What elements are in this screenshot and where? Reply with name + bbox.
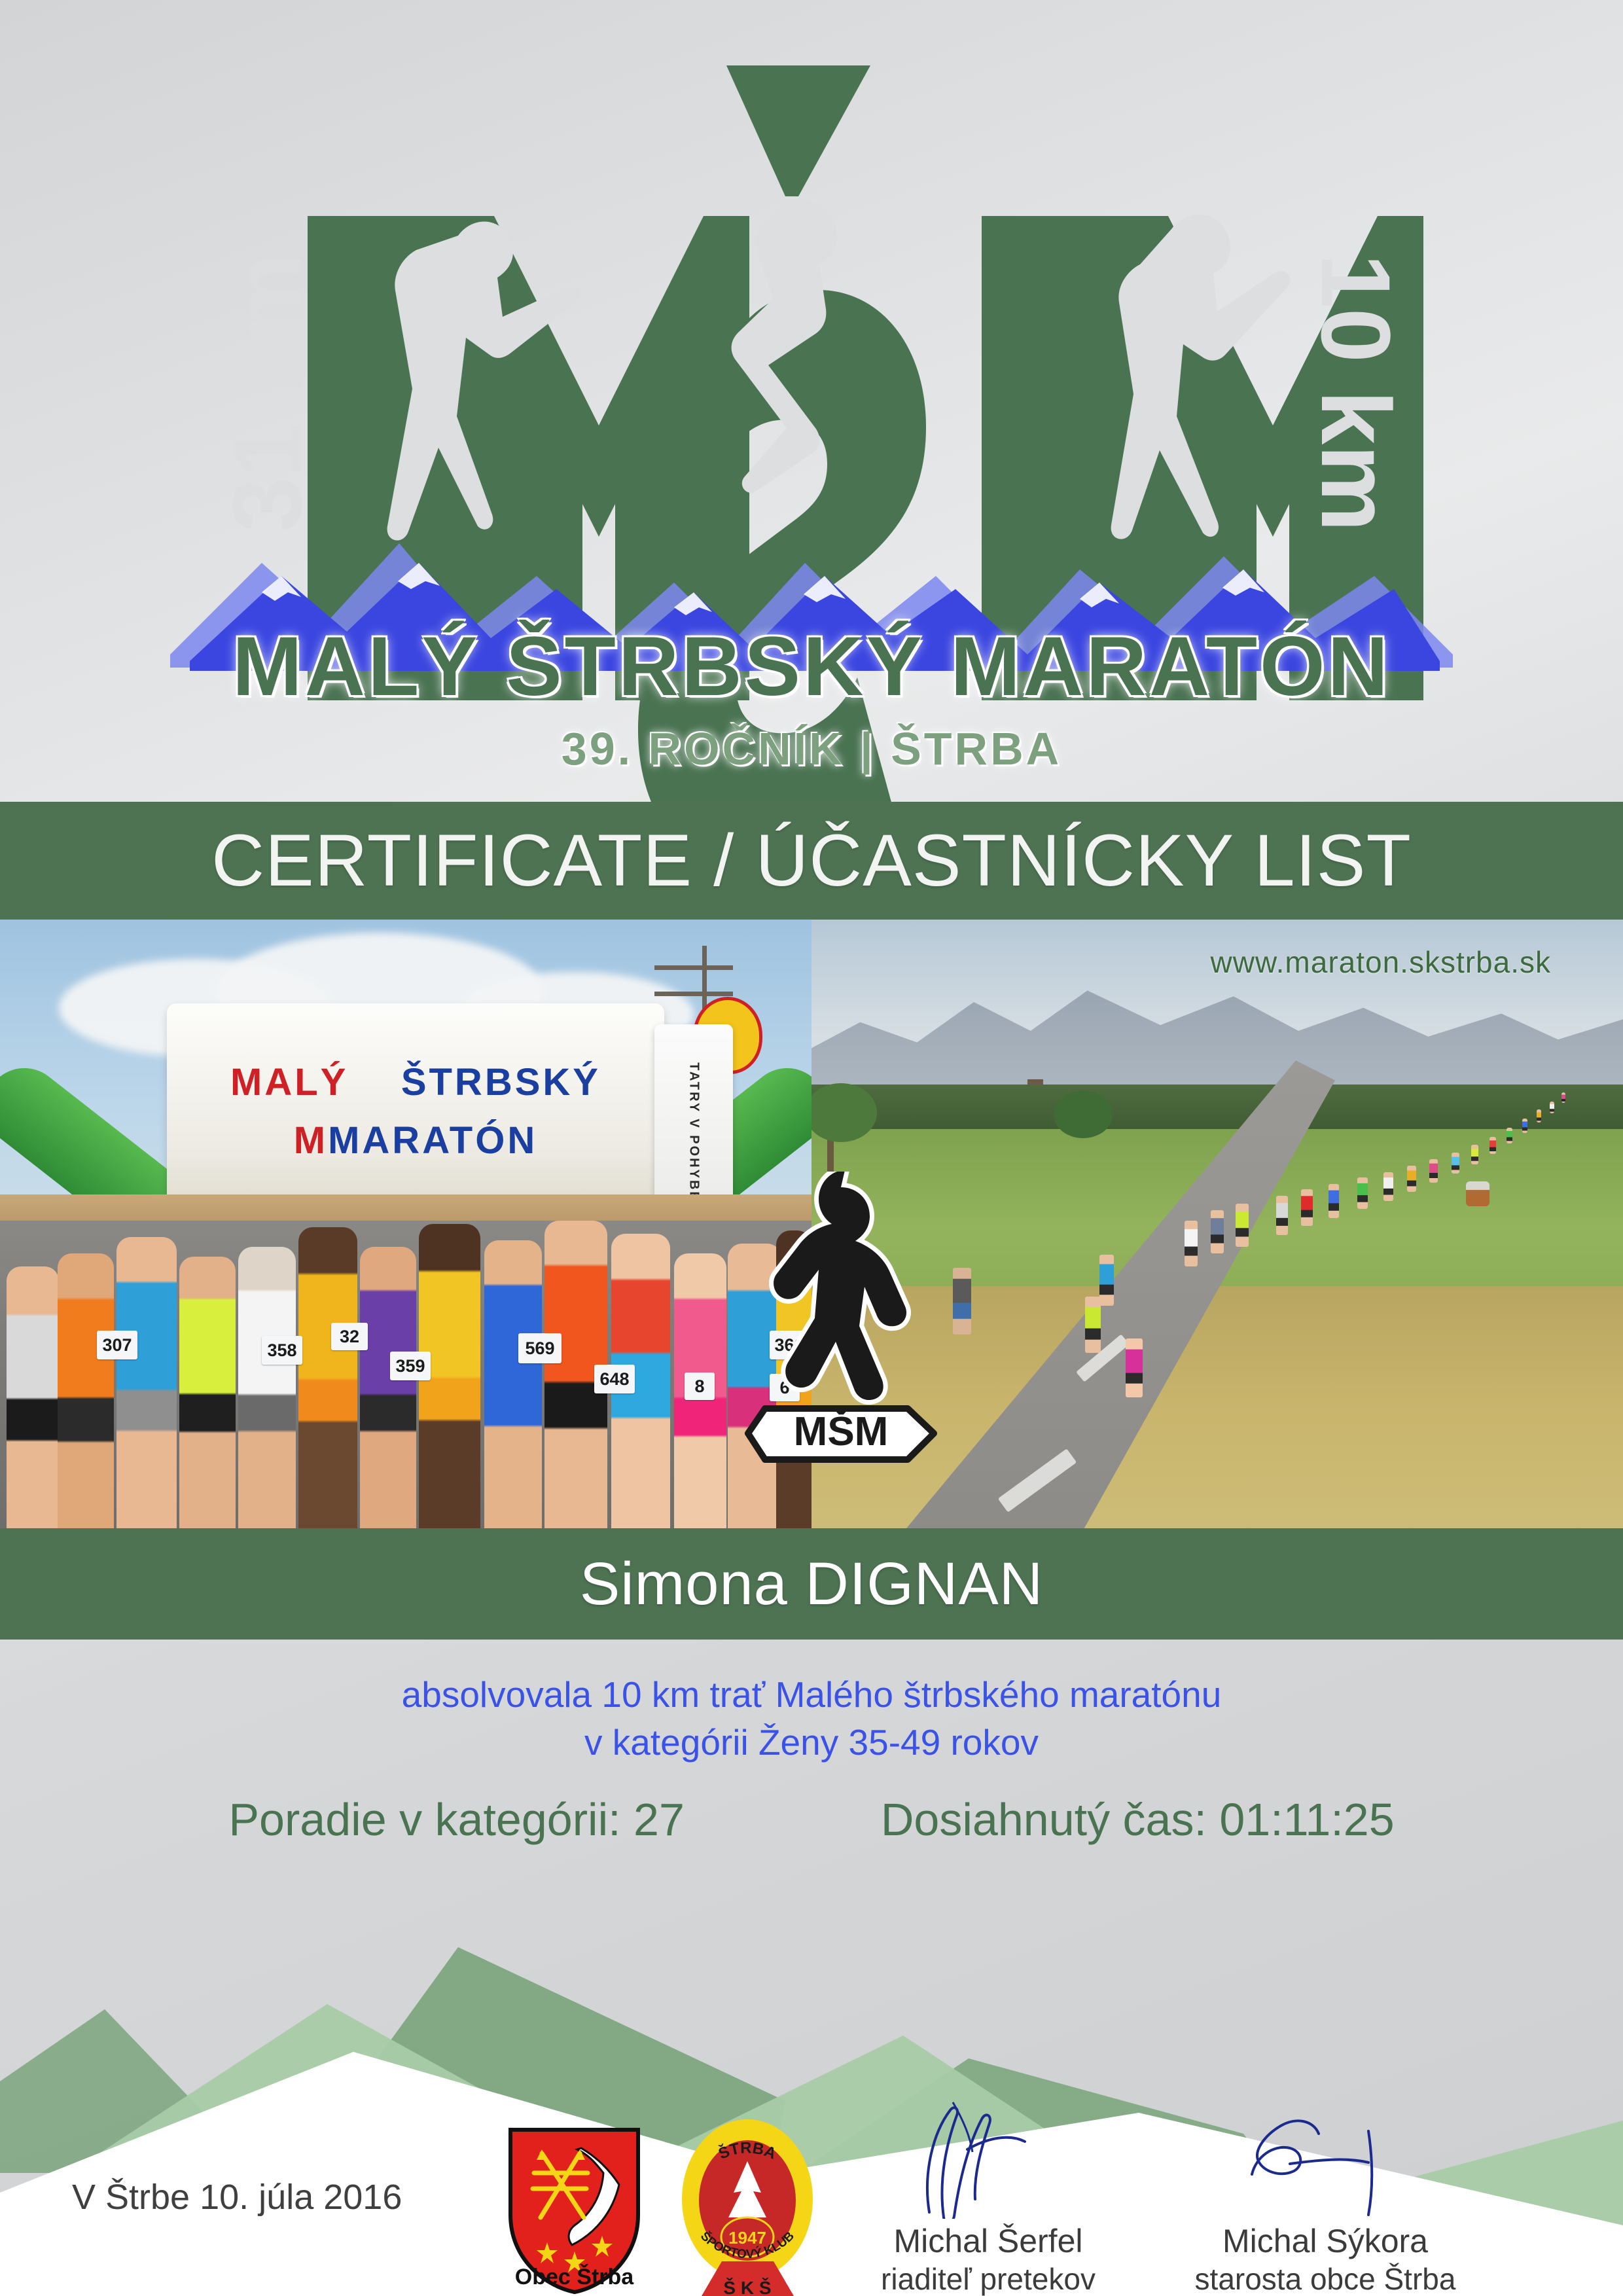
participant-name: Simona DIGNAN [580, 1550, 1043, 1619]
participant-name-band: Simona DIGNAN [0, 1528, 1623, 1640]
runner [1429, 1159, 1438, 1183]
participant-details: absolvovala 10 km trať Malého štrbského … [0, 1640, 1623, 1914]
runner [360, 1247, 416, 1528]
treeline [811, 1085, 1623, 1136]
certificate-page: 31 km 10 km MALÝ ŠTRBSKÝ MARATÓN 39. ROČ… [0, 0, 1623, 2296]
description-line-2: v kategórii Ženy 35-49 rokov [0, 1719, 1623, 1767]
finish-time: Dosiahnutý čas: 01:11:25 [881, 1793, 1395, 1846]
inflatable-arch-banner: MALÝ ŠTRBSKÝ MMARATÓN [167, 1003, 664, 1219]
sticker-runner-figure [774, 1172, 906, 1400]
signer-role: riaditeľ pretekov [834, 2261, 1142, 2296]
logo-title: MALÝ ŠTRBSKÝ MARATÓN 39. ROČNÍK | ŠTRBA [0, 619, 1623, 775]
utility-wire [654, 992, 733, 996]
certificate-footer: V Štrbe 10. júla 2016 Obec Štrba [0, 2049, 1623, 2296]
runner-bib: 648 [594, 1365, 635, 1393]
runner [1522, 1119, 1527, 1133]
runner [238, 1247, 296, 1528]
event-logo-header: 31 km 10 km MALÝ ŠTRBSKÝ MARATÓN 39. ROČ… [0, 0, 1623, 802]
runner [1185, 1221, 1198, 1266]
sticker-msm-text: MŠM [794, 1409, 889, 1454]
cow [1466, 1181, 1489, 1206]
website-url[interactable]: www.maraton.skstrba.sk [1211, 944, 1551, 980]
spectator [953, 1268, 971, 1335]
runner [1407, 1166, 1416, 1192]
runner-bib: 307 [97, 1331, 137, 1359]
runner [1452, 1153, 1459, 1174]
signer-name: Michal Sýkora [1171, 2222, 1479, 2260]
runner [58, 1253, 114, 1528]
runner-bib: 569 [518, 1333, 562, 1363]
issue-date: V Štrbe 10. júla 2016 [72, 2177, 402, 2217]
sks-club-logo-icon: 1947 ŠTRBA ŠPORTOVÝ KLUB Š K Š [677, 2114, 818, 2296]
runner [1126, 1338, 1143, 1397]
svg-text:10 km: 10 km [1301, 253, 1411, 531]
crest-label: Obec Štrba [504, 2265, 645, 2290]
runner [1329, 1184, 1339, 1218]
runner [1489, 1137, 1496, 1154]
runner [484, 1240, 542, 1528]
logo-title-text: MALÝ ŠTRBSKÝ MARATÓN [0, 619, 1623, 715]
arch-maly: MALÝ [230, 1061, 348, 1103]
runner [1236, 1204, 1249, 1247]
description-line-1: absolvovala 10 km trať Malého štrbského … [0, 1671, 1623, 1719]
runner-bib: 32 [331, 1323, 368, 1350]
signer-role: starosta obce Štrba [1171, 2261, 1479, 2296]
msm-runner-sticker: MŠM [743, 1172, 939, 1479]
club-year: 1947 [728, 2228, 766, 2248]
runner [1211, 1210, 1224, 1253]
runner-crowd: 307 358 32 359 569 648 8 6 360 [0, 1247, 811, 1528]
runner [116, 1237, 177, 1528]
photo-start-line: MALÝ ŠTRBSKÝ MMARATÓN ŠTART - CIEĽ TATRY… [0, 920, 811, 1528]
certificate-title-band: CERTIFICATE / ÚČASTNÍCKY LIST [0, 802, 1623, 920]
category-rank: Poradie v kategórii: 27 [228, 1793, 685, 1846]
logo-subtitle-text: 39. ROČNÍK | ŠTRBA [0, 723, 1623, 775]
sticker-msm-banner: MŠM [748, 1408, 934, 1460]
runner [1507, 1128, 1512, 1143]
signature-mark [890, 2094, 1086, 2219]
runner [1537, 1109, 1541, 1122]
arch-line-1: MALÝ ŠTRBSKÝ [230, 1060, 601, 1104]
svg-text:31 km: 31 km [212, 253, 322, 531]
runner [179, 1257, 236, 1528]
runner-bib: 359 [390, 1352, 431, 1380]
runner [298, 1227, 357, 1528]
logo-distance-left: 31 km [212, 253, 322, 531]
utility-wire [654, 965, 733, 970]
runner [1301, 1189, 1313, 1226]
runner [1561, 1092, 1565, 1103]
runner-bib: 8 [685, 1372, 715, 1400]
runner [1383, 1172, 1393, 1201]
runner-bib: 358 [262, 1336, 302, 1365]
runner [1471, 1145, 1478, 1164]
signature-mark [1227, 2094, 1423, 2219]
arch-maraton: MARATÓN [328, 1119, 537, 1162]
signer-name: Michal Šerfel [834, 2222, 1142, 2260]
tree-crown [1054, 1091, 1113, 1138]
runner [1276, 1196, 1288, 1235]
arch-strbsky: ŠTRBSKÝ [401, 1061, 601, 1103]
spectator [1099, 1255, 1114, 1306]
certificate-title: CERTIFICATE / ÚČASTNÍCKY LIST [211, 824, 1412, 897]
logo-distance-right: 10 km [1301, 253, 1411, 531]
runner [7, 1266, 59, 1528]
arch-line-2: MMARATÓN [294, 1119, 537, 1162]
results-row: Poradie v kategórii: 27 Dosiahnutý čas: … [0, 1793, 1623, 1846]
runner [1085, 1297, 1101, 1353]
club-bottom-text: Š K Š [723, 2277, 771, 2296]
flag-text: TATRY V POHYBE [687, 1062, 702, 1202]
runner [1550, 1102, 1554, 1113]
runner [1357, 1177, 1368, 1209]
